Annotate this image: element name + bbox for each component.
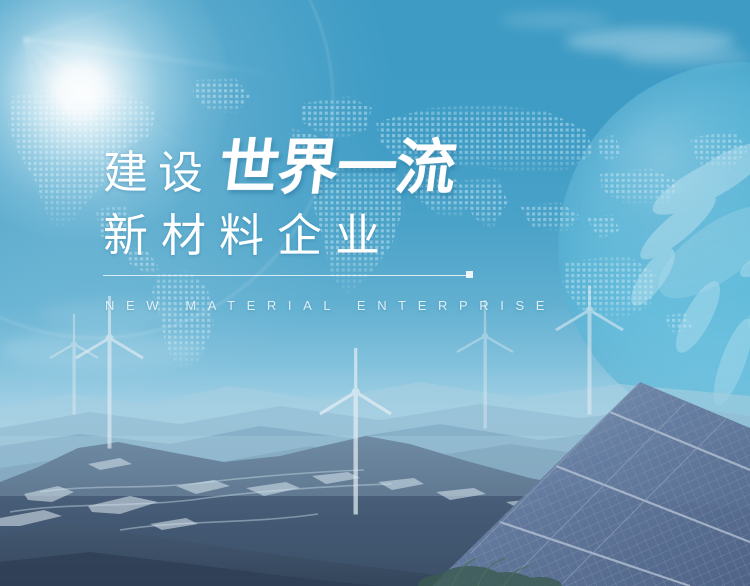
subtitle-english: NEW MATERIAL ENTERPRISE — [105, 298, 556, 313]
divider-end-marker — [466, 271, 473, 278]
headline-line-2: 新材料企业 — [103, 213, 393, 258]
hero-banner: 建设 世界一流 新材料企业 NEW MATERIAL ENTERPRISE — [0, 0, 750, 586]
headline-emphasis: 世界一流 — [215, 139, 458, 198]
banner-copy: 建设 世界一流 新材料企业 NEW MATERIAL ENTERPRISE — [0, 0, 750, 586]
headline-prefix: 建设 — [103, 150, 213, 198]
headline-line-1: 建设 世界一流 — [103, 139, 455, 198]
divider-rule — [103, 275, 470, 276]
